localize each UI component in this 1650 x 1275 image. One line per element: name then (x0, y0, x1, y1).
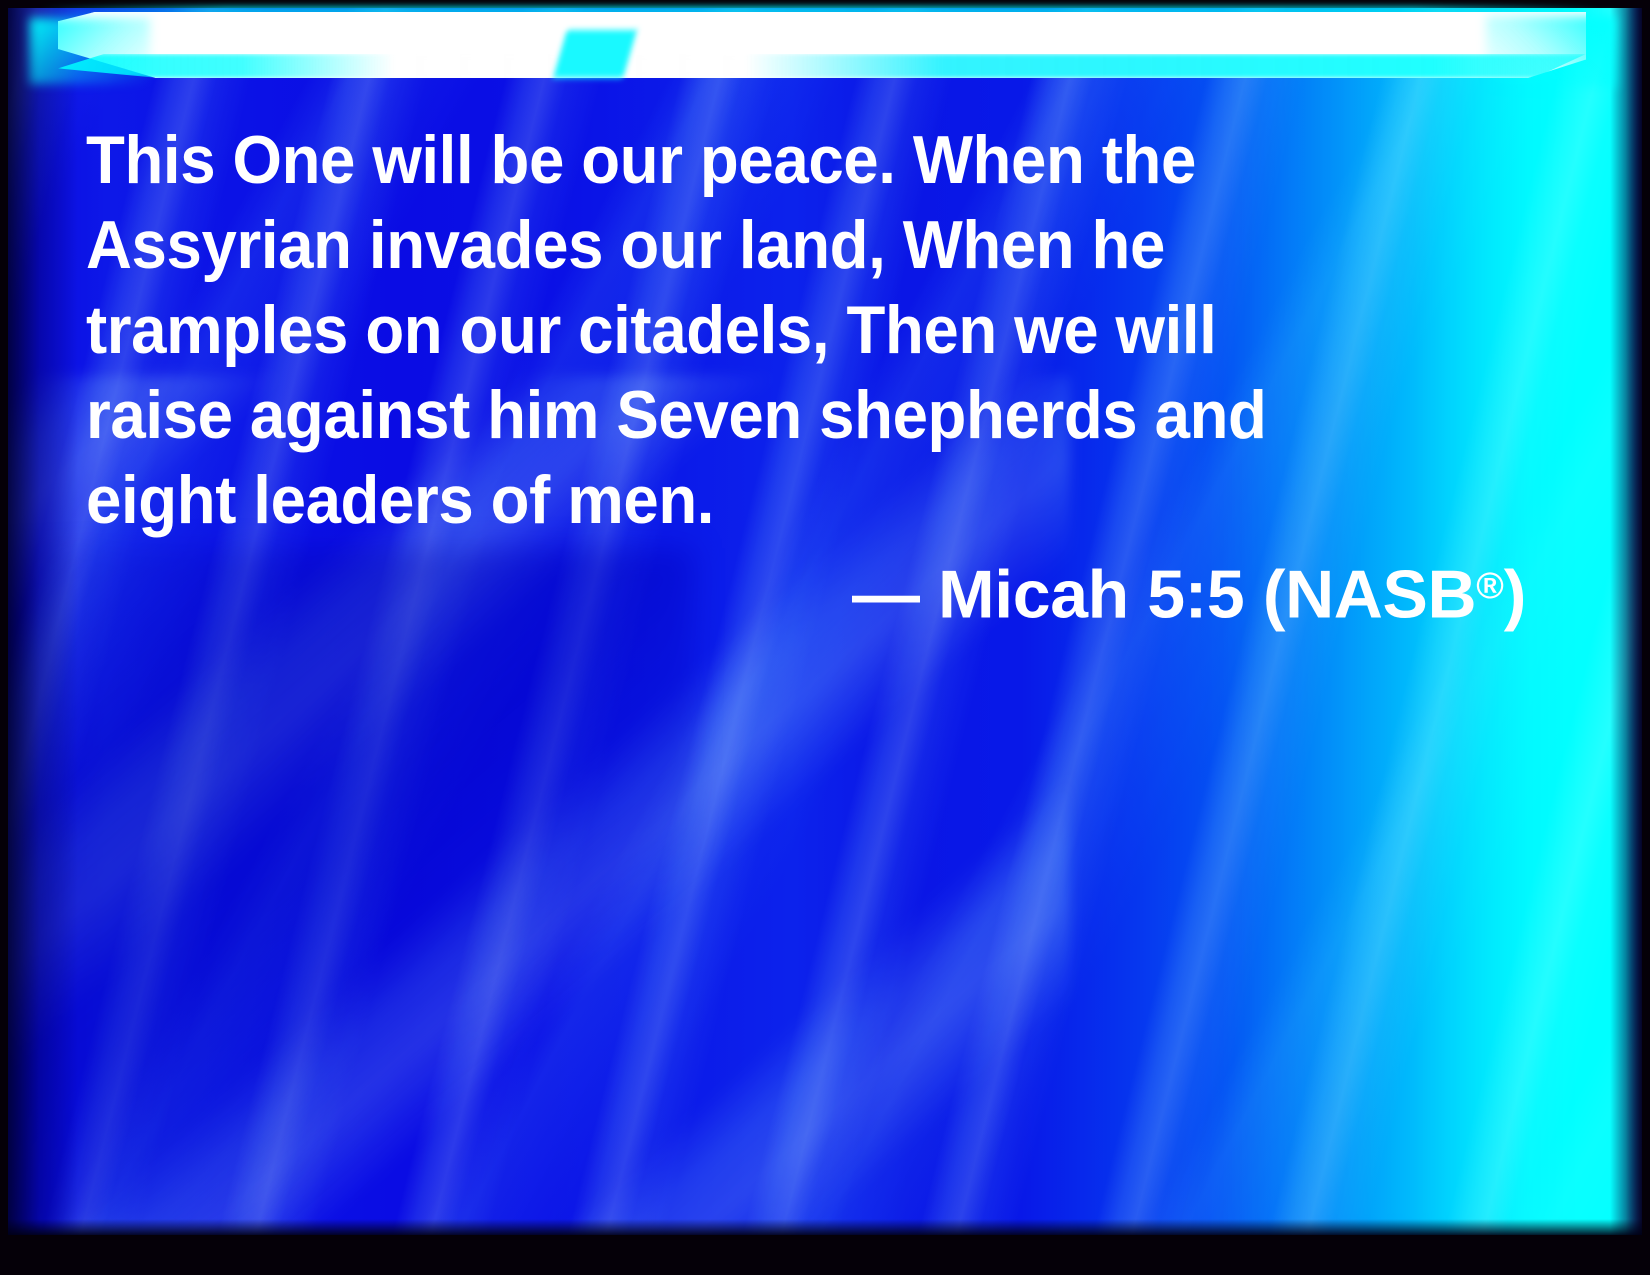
attribution-book: Micah (938, 556, 1129, 632)
registered-trademark-icon: ® (1476, 564, 1504, 606)
verse-attribution: — Micah 5:5 (NASB®) (86, 543, 1526, 637)
verse-body-text: This One will be our peace. When the Ass… (86, 118, 1320, 543)
verse-slide: This One will be our peace. When the Ass… (0, 0, 1650, 1275)
attribution-translation-open: (NASB (1263, 556, 1476, 632)
text-layer: This One will be our peace. When the Ass… (0, 0, 1650, 1275)
attribution-translation-close: ) (1504, 556, 1526, 632)
attribution-reference: 5:5 (1147, 556, 1244, 632)
attribution-dash: — (852, 556, 920, 632)
